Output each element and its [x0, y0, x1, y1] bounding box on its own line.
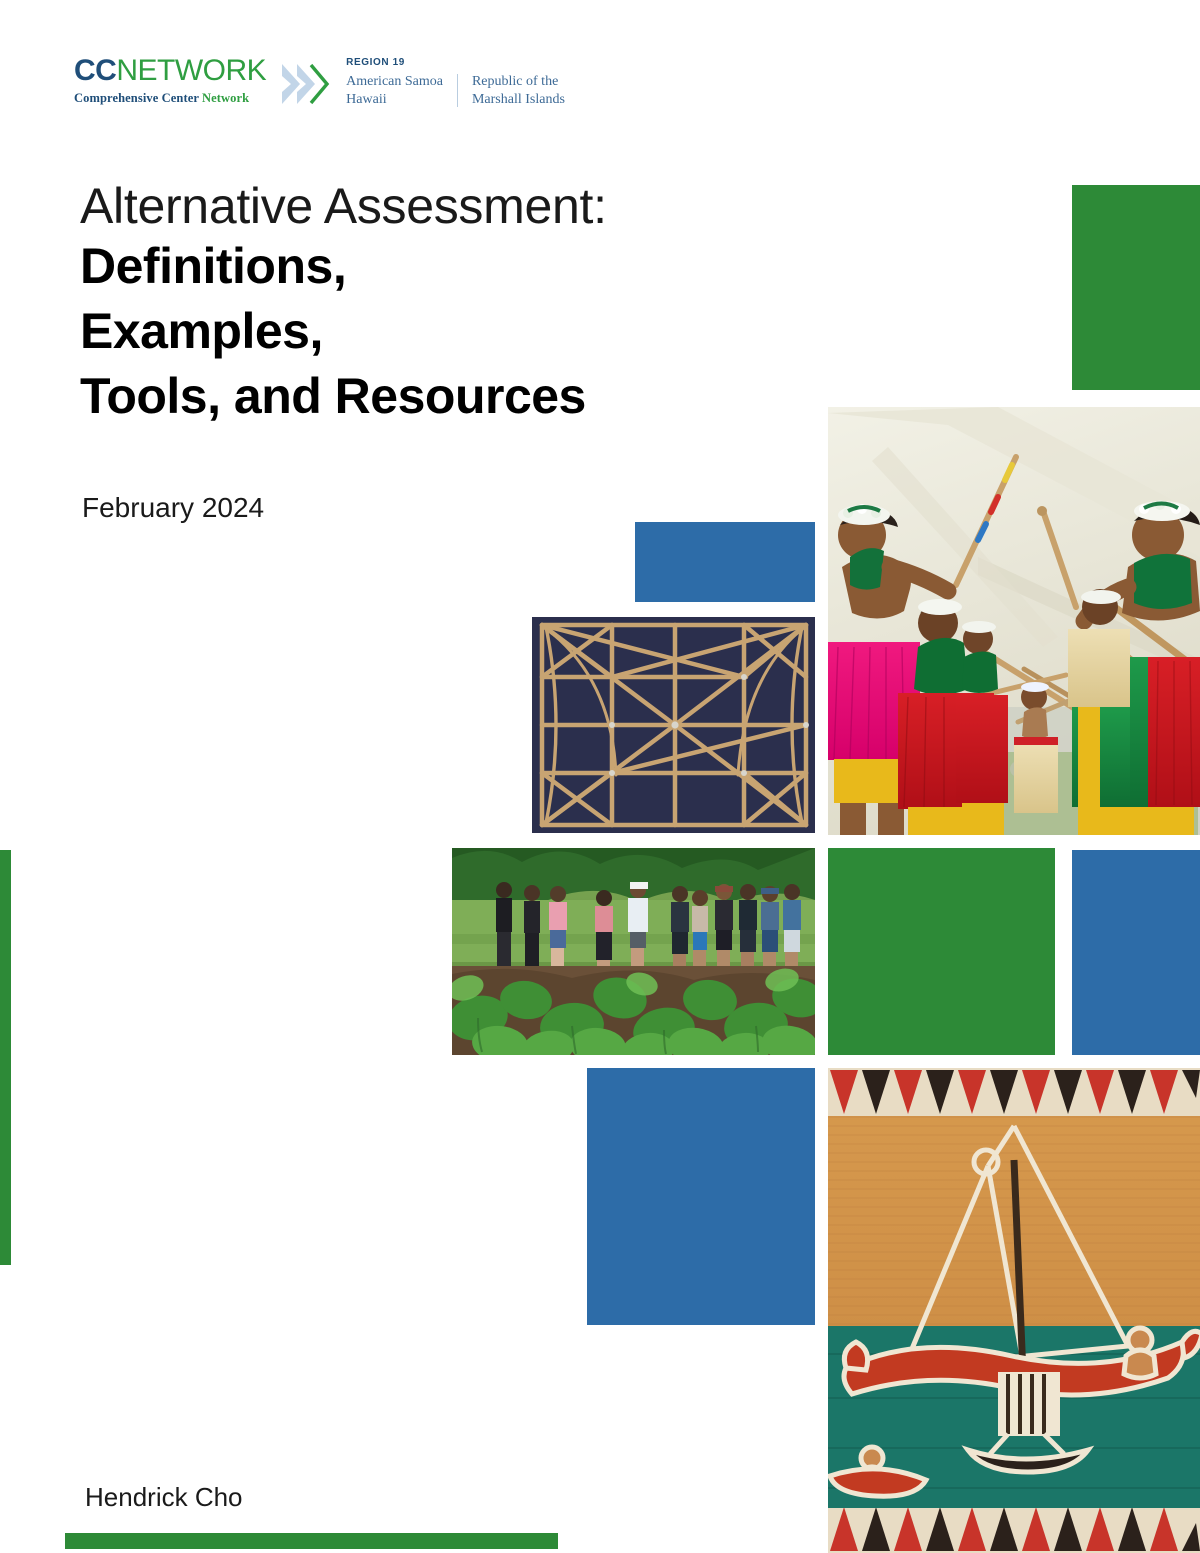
title-line-3: Examples,	[80, 299, 800, 364]
region-right-column: Republic of the Marshall Islands	[472, 73, 565, 108]
logo-tagline: Comprehensive Center Network	[74, 91, 266, 106]
region-right-line-1: Republic of the	[472, 73, 565, 91]
region-left-column: American Samoa Hawaii	[346, 73, 443, 108]
logo-tagline-main: Comprehensive Center	[74, 91, 199, 105]
decorative-block-blue-right	[1072, 850, 1200, 1055]
decorative-block-blue-middle	[635, 522, 815, 602]
title-line-4: Tools, and Resources	[80, 364, 800, 429]
publication-date: February 2024	[82, 492, 264, 524]
logo-wordmark-network: NETWORK	[116, 54, 266, 87]
decorative-rule-green-bottom	[65, 1533, 558, 1549]
decorative-block-green-top-right	[1072, 185, 1200, 390]
region-left-line-1: American Samoa	[346, 73, 443, 91]
title-line-1: Alternative Assessment:	[80, 178, 800, 234]
marshallese-stick-chart-photo	[532, 617, 815, 833]
region-divider	[457, 74, 458, 107]
region-block: REGION 19 American Samoa Hawaii Republic…	[346, 57, 565, 108]
logo-tagline-accent: Network	[199, 91, 249, 105]
decorative-bar-green-left	[0, 850, 11, 1265]
decorative-block-green-square	[828, 848, 1055, 1055]
region-right-line-2: Marshall Islands	[472, 91, 565, 109]
title-line-2: Definitions,	[80, 234, 800, 299]
cc-network-logo[interactable]: CCNETWORK Comprehensive Center Network R…	[74, 56, 565, 116]
students-in-taro-field-photo	[452, 848, 815, 1055]
pacific-voyaging-canoe-artwork-photo	[828, 1068, 1200, 1553]
region-names: American Samoa Hawaii Republic of the Ma…	[346, 73, 565, 108]
double-chevron-right-icon	[280, 60, 336, 108]
page-title: Alternative Assessment: Definitions, Exa…	[80, 178, 800, 429]
region-kicker: REGION 19	[346, 57, 565, 68]
logo-wordmark-cc: CC	[74, 54, 116, 87]
logo-wordmark-block: CCNETWORK Comprehensive Center Network	[74, 56, 266, 106]
decorative-block-blue-lower	[587, 1068, 815, 1325]
logo-wordmark: CCNETWORK	[74, 56, 266, 86]
region-left-line-2: Hawaii	[346, 91, 443, 109]
author-name: Hendrick Cho	[85, 1482, 243, 1513]
cover-page: CCNETWORK Comprehensive Center Network R…	[0, 0, 1200, 1553]
pacific-islander-stick-dancers-photo	[828, 407, 1200, 835]
